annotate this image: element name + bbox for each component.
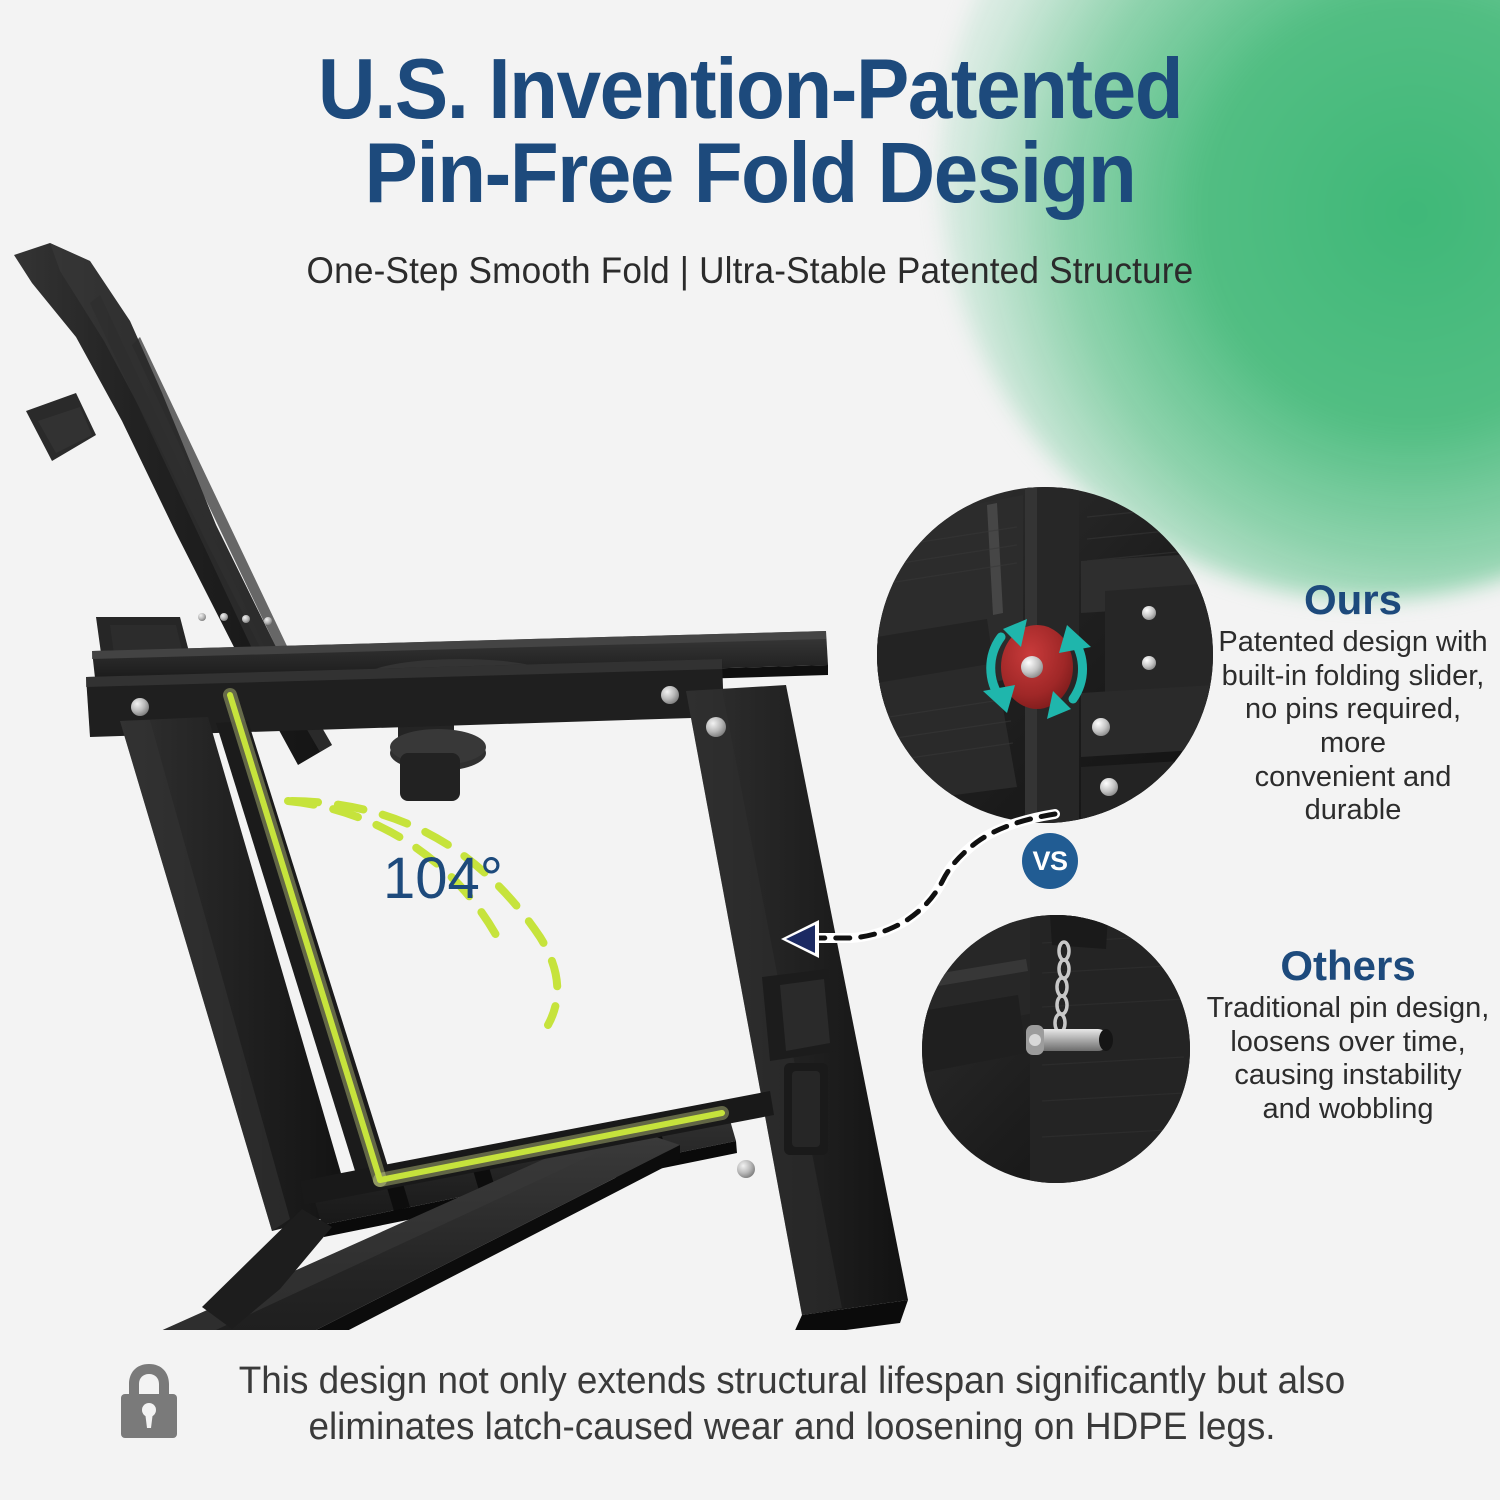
angle-label-104: 104° xyxy=(383,845,503,912)
page-title-line-1: U.S. Invention-Patented xyxy=(45,48,1455,132)
header: U.S. Invention-Patented Pin-Free Fold De… xyxy=(0,48,1500,292)
page-title-line-2: Pin-Free Fold Design xyxy=(45,132,1455,216)
screw xyxy=(264,617,272,625)
footer-text: This design not only extends structural … xyxy=(220,1358,1365,1451)
others-info-block: Others Traditional pin design, loosens o… xyxy=(1200,944,1496,1127)
footer: This design not only extends structural … xyxy=(0,1358,1500,1451)
ours-detail-photo xyxy=(877,487,1213,823)
screw xyxy=(131,698,149,716)
screw xyxy=(198,613,206,621)
metal-pin xyxy=(1026,1025,1113,1055)
others-heading: Others xyxy=(1200,944,1496,988)
bolt xyxy=(1092,718,1110,736)
ours-body-line-2: built-in folding slider, xyxy=(1212,660,1494,694)
adirondack-chair-illustration xyxy=(0,225,920,1330)
ours-body-line-1: Patented design with xyxy=(1212,626,1494,660)
screw xyxy=(661,686,679,704)
pivot-bolt xyxy=(1021,656,1043,678)
bolt xyxy=(1142,656,1156,670)
others-body-line-1: Traditional pin design, xyxy=(1200,992,1496,1026)
bolt xyxy=(1100,778,1118,796)
others-detail-photo xyxy=(922,915,1190,1183)
others-body-line-4: and wobbling xyxy=(1200,1093,1496,1127)
others-body-line-2: loosens over time, xyxy=(1200,1026,1496,1060)
lock-icon xyxy=(118,1362,180,1445)
infographic-page: U.S. Invention-Patented Pin-Free Fold De… xyxy=(0,0,1500,1500)
screw xyxy=(242,615,250,623)
ours-info-block: Ours Patented design with built-in foldi… xyxy=(1212,578,1494,828)
ours-body-line-3: no pins required, more xyxy=(1212,693,1494,760)
ours-body-line-4: convenient and durable xyxy=(1212,761,1494,828)
bolt xyxy=(1142,606,1156,620)
ours-heading: Ours xyxy=(1212,578,1494,622)
vs-badge: VS xyxy=(1022,833,1078,889)
screw xyxy=(220,613,228,621)
screw xyxy=(706,717,726,737)
screw xyxy=(737,1160,755,1178)
footer-line-1: This design not only extends structural … xyxy=(239,1360,1345,1402)
page-subtitle: One-Step Smooth Fold | Ultra-Stable Pate… xyxy=(38,250,1463,292)
footer-line-2: eliminates latch-caused wear and looseni… xyxy=(308,1406,1275,1448)
others-body-line-3: causing instability xyxy=(1200,1059,1496,1093)
